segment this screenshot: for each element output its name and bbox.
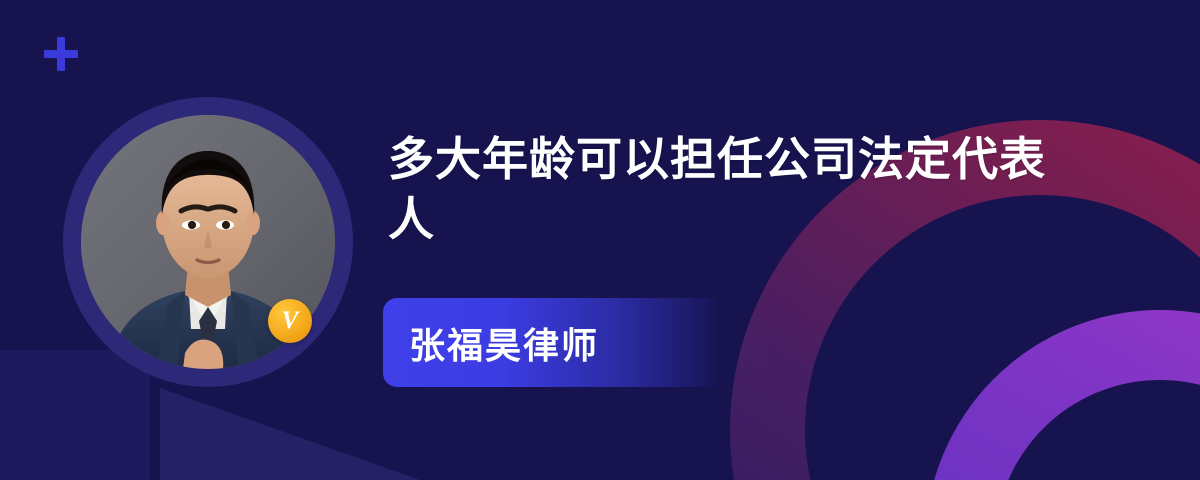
avatar[interactable]: V [63,97,353,387]
content-block: 多大年龄可以担任公司法定代表人 张福昊律师 [388,130,1088,250]
decor-arc-inner [925,310,1200,480]
decor-triangle-left [160,388,420,480]
verified-v-icon: V [268,299,312,343]
page-title: 多大年龄可以担任公司法定代表人 [388,130,1048,250]
verified-glyph: V [282,308,299,333]
article-banner: V 多大年龄可以担任公司法定代表人 张福昊律师 [0,0,1200,480]
author-name-badge[interactable]: 张福昊律师 [383,298,723,387]
plus-icon [44,37,78,71]
author-name: 张福昊律师 [383,317,599,369]
